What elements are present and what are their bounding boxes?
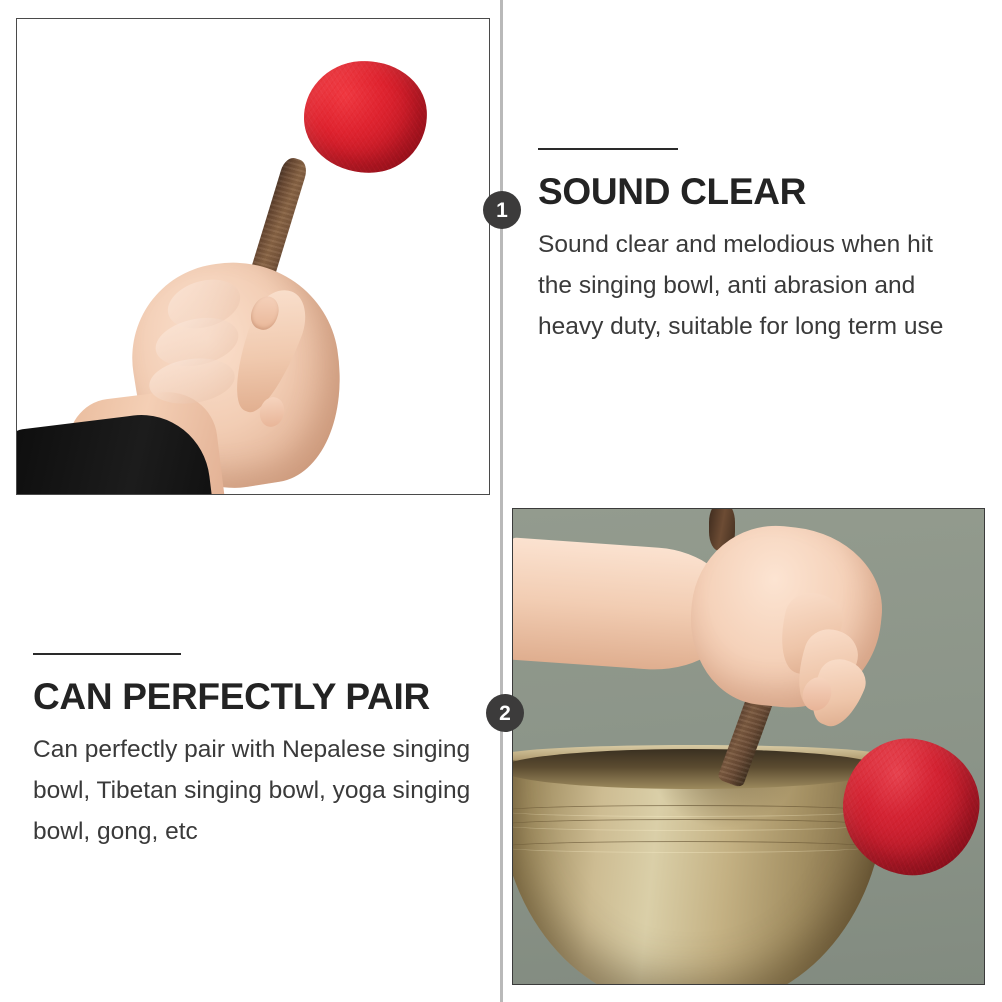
- feature-1-body: Sound clear and melodious when hit the s…: [538, 224, 968, 347]
- heading-rule: [33, 653, 181, 655]
- red-felt-mallet-head-icon: [300, 57, 431, 177]
- brass-singing-bowl: [512, 757, 885, 985]
- feature-2-heading: CAN PERFECTLY PAIR: [33, 677, 488, 717]
- feature-block-2: CAN PERFECTLY PAIR Can perfectly pair wi…: [33, 653, 488, 852]
- feature-block-1: SOUND CLEAR Sound clear and melodious wh…: [538, 148, 968, 347]
- step-badge-2: 2: [486, 694, 524, 732]
- product-photo-mallet-with-singing-bowl: Hand striking a brass Tibetan singing bo…: [512, 508, 985, 985]
- bowl-decorative-ring: [512, 841, 871, 853]
- product-photo-mallet-in-hand: Hand holding a wooden singing bowl malle…: [16, 18, 490, 495]
- photo-1-scene: [17, 19, 489, 494]
- heading-rule: [538, 148, 678, 150]
- bowl-inner-rim: [512, 749, 885, 789]
- infographic-page: Hand holding a wooden singing bowl malle…: [0, 0, 1002, 1002]
- vertical-divider: [500, 0, 503, 1002]
- photo-2-scene: [513, 509, 984, 984]
- feature-2-body: Can perfectly pair with Nepalese singing…: [33, 729, 488, 852]
- step-badge-1: 1: [483, 191, 521, 229]
- feature-1-heading: SOUND CLEAR: [538, 172, 968, 212]
